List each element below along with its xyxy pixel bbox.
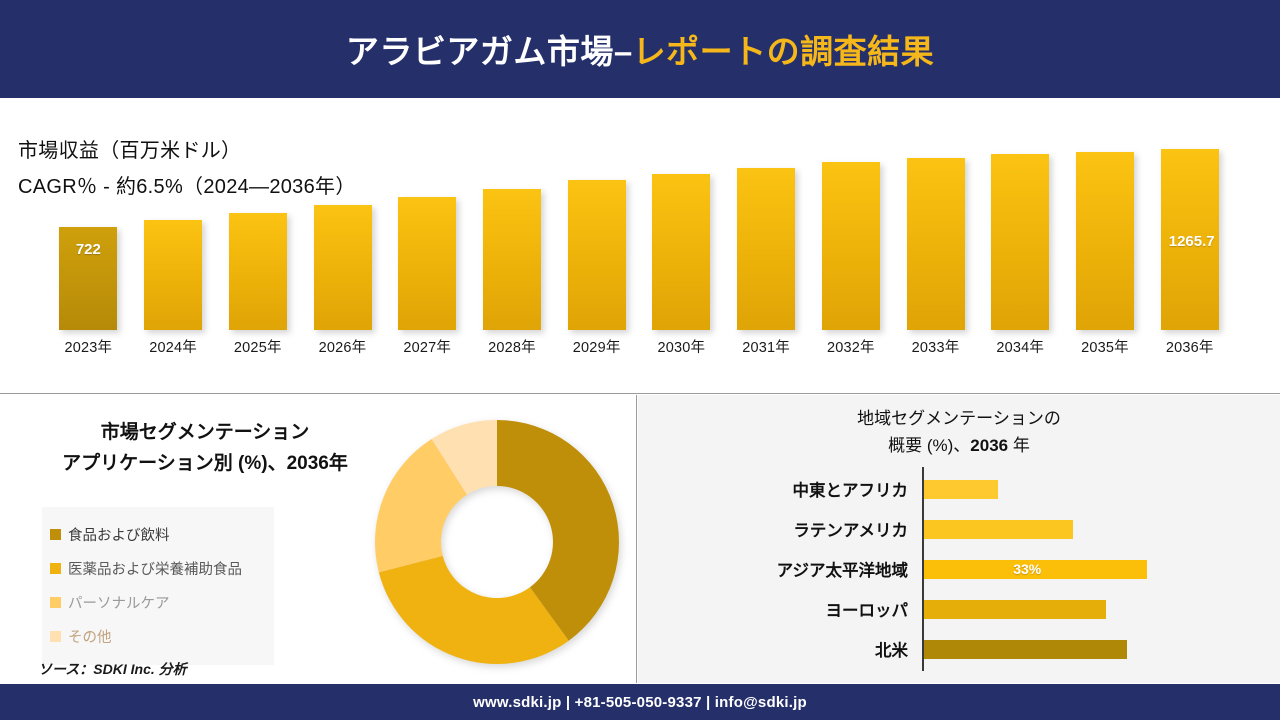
donut-title-line1: 市場セグメンテーション bbox=[20, 417, 390, 448]
bar-slot bbox=[724, 130, 809, 330]
bar-slot bbox=[808, 130, 893, 330]
bar-slot bbox=[978, 130, 1063, 330]
donut-legend-label: 食品および飲料 bbox=[68, 524, 170, 545]
legend-swatch-icon bbox=[50, 563, 61, 574]
revenue-bar[interactable] bbox=[1076, 152, 1134, 330]
source-note: ソース：SDKI Inc. 分析 bbox=[38, 659, 187, 679]
region-category-label: 中東とアフリカ bbox=[793, 477, 909, 501]
bar-slot: 722 bbox=[46, 130, 131, 330]
revenue-bar[interactable] bbox=[314, 205, 372, 330]
donut-legend-item[interactable]: 医薬品および栄養補助食品 bbox=[50, 551, 266, 585]
revenue-bar[interactable] bbox=[907, 158, 965, 330]
region-bar[interactable] bbox=[924, 480, 998, 499]
region-title-post: 年 bbox=[1008, 436, 1030, 455]
donut-chart bbox=[372, 417, 622, 667]
donut-legend: 食品および飲料医薬品および栄養補助食品パーソナルケアその他 bbox=[42, 507, 274, 665]
bar-value-label: 1265.7 bbox=[1165, 233, 1219, 250]
legend-swatch-icon bbox=[50, 529, 61, 540]
bar-category-label: 2023年 bbox=[46, 336, 131, 364]
revenue-bar[interactable] bbox=[398, 197, 456, 330]
revenue-bars-categories: 2023年2024年2025年2026年2027年2028年2029年2030年… bbox=[46, 336, 1232, 364]
bar-category-label: 2027年 bbox=[385, 336, 470, 364]
page-title-main: アラビアガム市場– bbox=[346, 33, 633, 70]
region-bar[interactable] bbox=[924, 640, 1127, 659]
bar-category-label: 2033年 bbox=[893, 336, 978, 364]
donut-legend-label: その他 bbox=[68, 626, 112, 647]
donut-legend-label: 医薬品および栄養補助食品 bbox=[68, 558, 242, 579]
region-category-label: アジア太平洋地域 bbox=[777, 557, 908, 581]
revenue-bars-area: 7221265.7 2023年2024年2025年2026年2027年2028年… bbox=[46, 128, 1232, 366]
revenue-bars-plot: 7221265.7 bbox=[46, 130, 1232, 330]
donut-svg bbox=[372, 417, 622, 667]
donut-legend-item[interactable]: 食品および飲料 bbox=[50, 517, 266, 551]
region-category-label: 北米 bbox=[875, 637, 908, 661]
header-bar: アラビアガム市場–レポートの調査結果 bbox=[0, 0, 1280, 98]
bar-category-label: 2028年 bbox=[470, 336, 555, 364]
bar-slot bbox=[639, 130, 724, 330]
donut-legend-item[interactable]: その他 bbox=[50, 619, 266, 653]
bar-category-label: 2029年 bbox=[554, 336, 639, 364]
region-category-label: ラテンアメリカ bbox=[793, 517, 908, 541]
bar-category-label: 2035年 bbox=[1063, 336, 1148, 364]
region-title-line2: 概要 (%)、2036 年 bbox=[638, 432, 1280, 459]
bar-category-label: 2030年 bbox=[639, 336, 724, 364]
bar-slot bbox=[470, 130, 555, 330]
region-title-pre: 概要 (%)、 bbox=[888, 436, 970, 455]
region-bar-row: ラテンアメリカ bbox=[638, 509, 1280, 549]
bar-category-label: 2024年 bbox=[131, 336, 216, 364]
region-bar-value: 33% bbox=[1013, 560, 1041, 579]
revenue-bar[interactable] bbox=[822, 162, 880, 330]
bar-category-label: 2036年 bbox=[1147, 336, 1232, 364]
bar-slot: 1265.7 bbox=[1147, 130, 1232, 330]
page-title: アラビアガム市場–レポートの調査結果 bbox=[346, 25, 934, 73]
region-chart-title: 地域セグメンテーションの 概要 (%)、2036 年 bbox=[638, 405, 1280, 459]
donut-chart-title: 市場セグメンテーション アプリケーション別 (%)、2036年 bbox=[20, 417, 390, 479]
donut-title-line2: アプリケーション別 (%)、2036年 bbox=[20, 448, 390, 479]
region-bar-row: 中東とアフリカ bbox=[638, 469, 1280, 509]
bar-slot bbox=[215, 130, 300, 330]
donut-segment[interactable] bbox=[379, 556, 569, 664]
region-title-year: 2036 bbox=[970, 436, 1008, 455]
bar-slot bbox=[131, 130, 216, 330]
bar-category-label: 2032年 bbox=[808, 336, 893, 364]
bar-category-label: 2034年 bbox=[978, 336, 1063, 364]
donut-legend-label: パーソナルケア bbox=[68, 592, 170, 613]
bar-slot bbox=[385, 130, 470, 330]
legend-swatch-icon bbox=[50, 597, 61, 608]
revenue-bar[interactable]: 722 bbox=[59, 227, 117, 330]
bar-slot bbox=[300, 130, 385, 330]
bar-slot bbox=[1063, 130, 1148, 330]
bar-category-label: 2026年 bbox=[300, 336, 385, 364]
footer-contact-text: www.sdki.jp | +81-505-050-9337 | info@sd… bbox=[473, 694, 807, 711]
revenue-bar[interactable] bbox=[991, 154, 1049, 330]
revenue-bar[interactable] bbox=[229, 213, 287, 330]
region-bar-row: 北米 bbox=[638, 629, 1280, 669]
bar-category-label: 2025年 bbox=[215, 336, 300, 364]
page-title-accent: レポートの調査結果 bbox=[633, 33, 935, 70]
segmentation-donut-panel: 市場セグメンテーション アプリケーション別 (%)、2036年 食品および飲料医… bbox=[0, 395, 637, 683]
footer-bar: www.sdki.jp | +81-505-050-9337 | info@sd… bbox=[0, 684, 1280, 720]
revenue-bar[interactable]: 1265.7 bbox=[1161, 149, 1219, 330]
region-bar[interactable]: 33% bbox=[924, 560, 1147, 579]
revenue-bar[interactable] bbox=[568, 180, 626, 330]
donut-legend-item[interactable]: パーソナルケア bbox=[50, 585, 266, 619]
revenue-bar[interactable] bbox=[652, 174, 710, 330]
region-bar[interactable] bbox=[924, 520, 1073, 539]
revenue-bar[interactable] bbox=[483, 189, 541, 330]
bar-slot bbox=[893, 130, 978, 330]
bar-category-label: 2031年 bbox=[724, 336, 809, 364]
region-title-line1: 地域セグメンテーションの bbox=[638, 405, 1280, 432]
revenue-bar[interactable] bbox=[144, 220, 202, 330]
region-bar-row: ヨーロッパ bbox=[638, 589, 1280, 629]
slide-root: アラビアガム市場–レポートの調査結果 市場収益（百万米ドル） CAGR％ - 約… bbox=[0, 0, 1280, 720]
revenue-bar[interactable] bbox=[737, 168, 795, 330]
revenue-chart-panel: 市場収益（百万米ドル） CAGR％ - 約6.5%（2024―2036年） 72… bbox=[0, 98, 1280, 394]
legend-swatch-icon bbox=[50, 631, 61, 642]
region-chart-panel: 地域セグメンテーションの 概要 (%)、2036 年 中東とアフリカラテンアメリ… bbox=[638, 395, 1280, 683]
region-bars-plot: 中東とアフリカラテンアメリカアジア太平洋地域33%ヨーロッパ北米 bbox=[638, 467, 1280, 671]
region-bar[interactable] bbox=[924, 600, 1106, 619]
region-category-label: ヨーロッパ bbox=[826, 597, 909, 621]
bar-slot bbox=[554, 130, 639, 330]
bar-value-label: 722 bbox=[59, 241, 117, 258]
region-bar-row: アジア太平洋地域33% bbox=[638, 549, 1280, 589]
